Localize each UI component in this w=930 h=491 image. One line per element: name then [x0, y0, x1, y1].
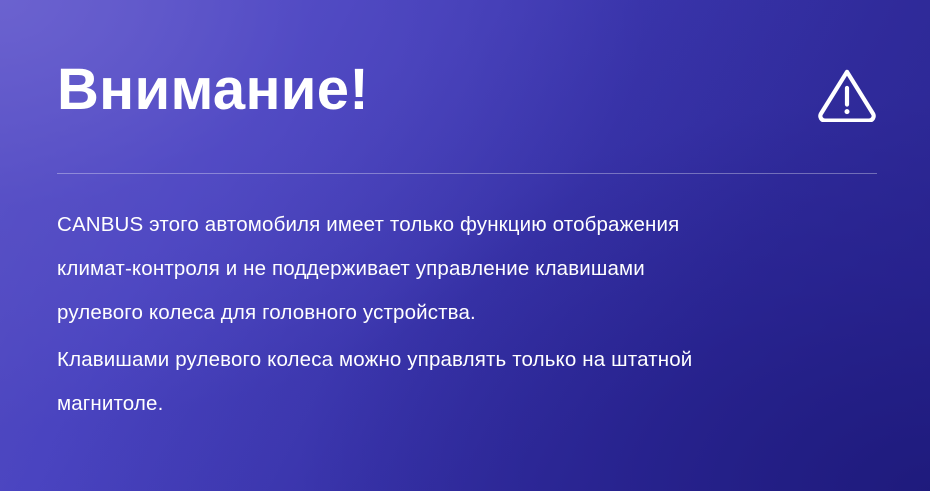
notice-line: CANBUS этого автомобиля имеет только фун…	[57, 203, 890, 247]
notice-line: климат-контроля и не поддерживает управл…	[57, 247, 890, 291]
notice-body: CANBUS этого автомобиля имеет только фун…	[57, 203, 890, 426]
notice-line: магнитоле.	[57, 382, 890, 426]
notice-line: Клавишами рулевого колеса можно управлят…	[57, 338, 890, 382]
page-title: Внимание!	[57, 44, 878, 136]
warning-banner: Внимание! CANBUS этого автомобиля имеет …	[0, 0, 930, 491]
notice-line: рулевого колеса для головного устройства…	[57, 291, 890, 335]
header-divider	[57, 173, 877, 174]
warning-triangle-icon	[816, 66, 878, 122]
banner-header: Внимание!	[57, 44, 878, 136]
